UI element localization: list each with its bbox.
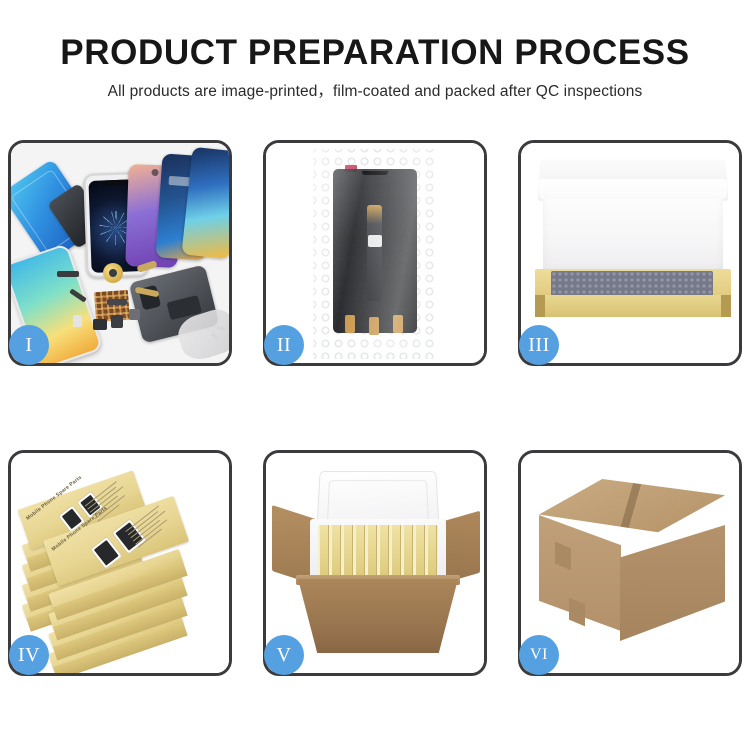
step-1-image bbox=[11, 143, 229, 363]
step-3-image bbox=[521, 143, 739, 363]
process-step-panel-5[interactable]: V bbox=[263, 450, 487, 676]
camera-module-icon bbox=[93, 319, 107, 330]
page-title: PRODUCT PREPARATION PROCESS bbox=[0, 0, 750, 73]
step-4-image: Mobile Phone Spare Parts Mobile Phone Sp… bbox=[11, 453, 229, 673]
step-6-image bbox=[521, 453, 739, 673]
page-subtitle: All products are image-printed，film-coat… bbox=[0, 73, 750, 101]
white-foam-sheet-icon bbox=[543, 185, 723, 277]
step-5-badge: V bbox=[264, 635, 304, 675]
process-step-panel-1[interactable]: I bbox=[8, 140, 232, 366]
product-preparation-page: PRODUCT PREPARATION PROCESS All products… bbox=[0, 0, 750, 750]
process-step-panel-4[interactable]: Mobile Phone Spare Parts Mobile Phone Sp… bbox=[8, 450, 232, 676]
antenna-strip-icon bbox=[107, 299, 127, 305]
step-6-badge: VI bbox=[519, 635, 559, 675]
process-step-panel-2[interactable]: II bbox=[263, 140, 487, 366]
step-2-badge: II bbox=[264, 325, 304, 365]
packed-units-icon bbox=[318, 525, 438, 577]
step-3-badge: III bbox=[519, 325, 559, 365]
bag-gloss-icon bbox=[313, 143, 437, 353]
page-header: PRODUCT PREPARATION PROCESS All products… bbox=[0, 0, 750, 101]
step-4-badge: IV bbox=[9, 635, 49, 675]
carton-right-face-icon bbox=[620, 525, 725, 641]
step-2-image bbox=[266, 143, 484, 363]
sim-tray-icon bbox=[73, 315, 82, 327]
process-step-panel-3[interactable]: III bbox=[518, 140, 742, 366]
process-step-panel-6[interactable]: VI bbox=[518, 450, 742, 676]
step-5-image bbox=[266, 453, 484, 673]
vibration-motor-icon bbox=[111, 315, 123, 328]
process-step-grid: I II bbox=[8, 140, 742, 698]
connector-chip-icon bbox=[57, 271, 79, 277]
step-1-badge: I bbox=[9, 325, 49, 365]
box-phone-image-icon bbox=[91, 537, 122, 568]
inner-box-front-icon bbox=[535, 295, 731, 317]
battery-connector-icon bbox=[129, 309, 140, 320]
speaker-module-icon bbox=[103, 263, 123, 283]
phone-notch-icon bbox=[102, 180, 126, 186]
carton-body-icon bbox=[298, 579, 458, 653]
